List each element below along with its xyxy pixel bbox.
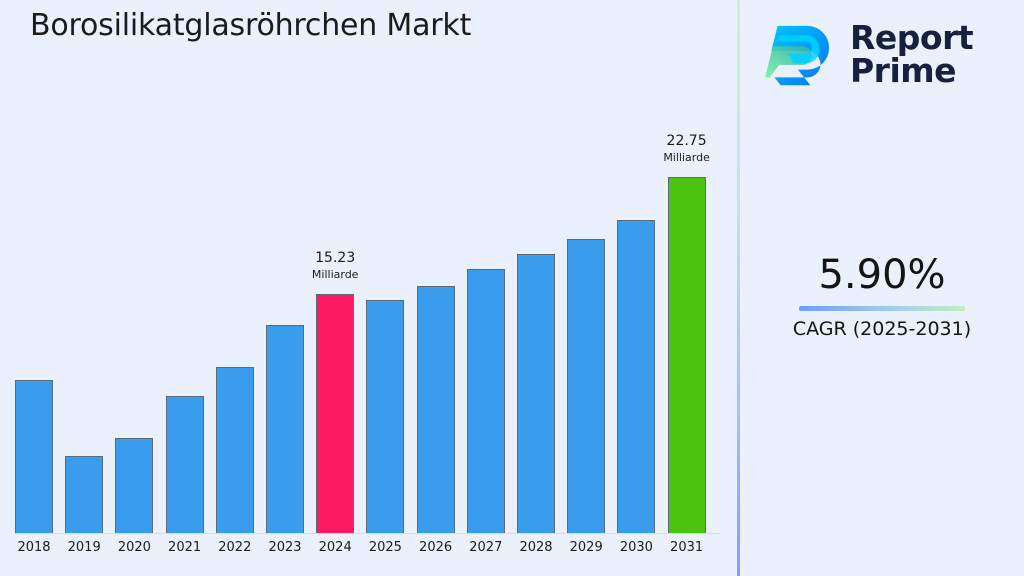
- infographic-page: Borosilikatglasröhrchen Markt 2018201920…: [0, 0, 1024, 576]
- bar-column-2024: 15.23Milliarde2024: [316, 0, 354, 576]
- cagr-block: 5.90% CAGR (2025-2031): [740, 252, 1024, 341]
- x-tick-2031: 2031: [657, 540, 717, 555]
- bar-column-2018: 2018: [15, 0, 53, 576]
- chart-panel: Borosilikatglasröhrchen Markt 2018201920…: [0, 0, 738, 576]
- brand-name-line2: Prime: [850, 54, 973, 87]
- brand-name: Report Prime: [850, 21, 973, 87]
- bar-2018: [15, 380, 53, 533]
- bar-2029: [567, 239, 605, 533]
- bar-column-2025: 2025: [366, 0, 404, 576]
- bar-column-2023: 2023: [266, 0, 304, 576]
- report-prime-logo-icon: [762, 15, 840, 93]
- bar-value-number-2031: 22.75: [667, 133, 707, 149]
- bar-2031: [668, 177, 706, 533]
- bar-column-2030: 2030: [617, 0, 655, 576]
- bar-2022: [216, 367, 254, 533]
- bar-2023: [266, 325, 304, 533]
- bar-2024: [316, 294, 354, 533]
- bar-2019: [65, 456, 103, 533]
- bar-2020: [115, 438, 153, 533]
- cagr-value: 5.90%: [740, 252, 1024, 298]
- summary-panel: Report Prime 5.90% CAGR (2025-2031): [740, 0, 1024, 576]
- bar-2021: [166, 396, 204, 533]
- bar-2026: [417, 286, 455, 533]
- bar-value-unit-2031: Milliarde: [627, 150, 747, 165]
- bar-column-2019: 2019: [65, 0, 103, 576]
- bar-chart-plot: 20182019202020212022202315.23Milliarde20…: [0, 0, 738, 576]
- bar-value-label-2031: 22.75Milliarde: [627, 133, 747, 165]
- brand-logo: Report Prime: [762, 12, 1012, 96]
- bar-2030: [617, 220, 655, 533]
- bar-column-2029: 2029: [567, 0, 605, 576]
- bar-column-2026: 2026: [417, 0, 455, 576]
- bar-2025: [366, 300, 404, 533]
- cagr-label: CAGR (2025-2031): [740, 317, 1024, 341]
- cagr-divider-rule: [799, 306, 965, 311]
- bar-column-2031: 22.75Milliarde2031: [668, 0, 706, 576]
- bar-column-2021: 2021: [166, 0, 204, 576]
- bar-2028: [517, 254, 555, 533]
- bar-column-2020: 2020: [115, 0, 153, 576]
- bar-column-2022: 2022: [216, 0, 254, 576]
- bar-column-2027: 2027: [467, 0, 505, 576]
- bar-value-number-2024: 15.23: [315, 250, 355, 266]
- bar-column-2028: 2028: [517, 0, 555, 576]
- bar-2027: [467, 269, 505, 533]
